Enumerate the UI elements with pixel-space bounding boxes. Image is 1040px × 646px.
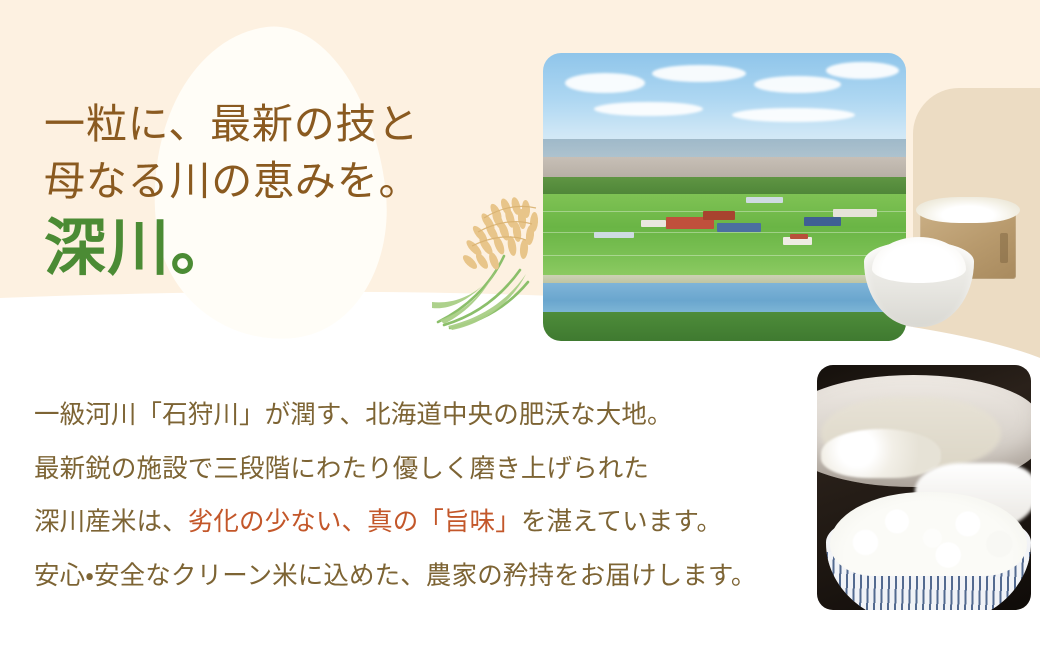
- body-copy: 一級河川「石狩川」が潤す、北海道中央の肥沃な大地。 最新鋭の施設で三段階にわたり…: [34, 402, 794, 588]
- brand-name: 深川。: [44, 217, 514, 282]
- photo-cloud: [732, 108, 855, 122]
- photo-field-divider: [543, 255, 906, 256]
- masu-joint: [1000, 233, 1008, 263]
- photo-farm-building: [790, 234, 808, 239]
- cooked-rice-photo: [817, 365, 1031, 610]
- masu-uncooked-rice: [916, 197, 1020, 223]
- photo-pot-rice: [821, 429, 941, 478]
- headline-line-2: 母なる川の恵みを。: [44, 153, 514, 210]
- photo-greenhouse: [594, 232, 634, 238]
- photo-farm-building: [804, 217, 840, 226]
- photo-cloud: [652, 65, 746, 82]
- body-line-3-accent: 劣化の少ない、真の「旨味」: [188, 507, 521, 536]
- photo-farm-building: [703, 211, 736, 220]
- still-life-bowl-and-masu: [860, 185, 1040, 345]
- body-line-1: 一級河川「石狩川」が潤す、北海道中央の肥沃な大地。: [34, 402, 794, 428]
- photo-greenhouse: [746, 197, 782, 203]
- banner-stage: 一粒に、最新の技と 母なる川の恵みを。 深川。: [0, 0, 1040, 646]
- body-line-3-pre: 深川産米は、: [34, 507, 188, 536]
- body-line-3-post: を湛えています。: [521, 507, 722, 536]
- photo-farm-building: [641, 220, 666, 227]
- body-line-3: 深川産米は、劣化の少ない、真の「旨味」を湛えています。: [34, 509, 794, 535]
- body-line-2: 最新鋭の施設で三段階にわたり優しく磨き上げられた: [34, 456, 794, 482]
- photo-cloud: [826, 62, 899, 79]
- landscape-photo: [543, 53, 906, 341]
- body-line-4: 安心・安全なクリーン米に込めた、農家の矜持をお届けします。: [34, 563, 794, 589]
- photo-foreground-trees: [543, 312, 906, 341]
- headline-line-1: 一粒に、最新の技と: [44, 96, 514, 153]
- hero-headline: 一粒に、最新の技と 母なる川の恵みを。 深川。: [44, 96, 514, 282]
- photo-farm-building: [717, 223, 761, 232]
